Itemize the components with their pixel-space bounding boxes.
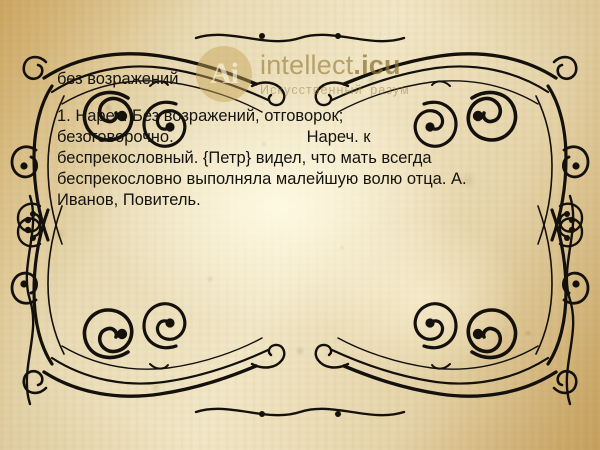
- ornament-bottom-edge: [196, 409, 404, 415]
- ornament-top-edge: [196, 35, 404, 41]
- entry-headword: без возражений: [57, 68, 547, 90]
- ornament-bottom-left: [12, 206, 284, 396]
- ornament-left-edge: [27, 196, 33, 404]
- ornament-right-edge: [567, 196, 573, 404]
- parchment-card: Ai intellect.icu Искусственный разум без…: [0, 0, 600, 450]
- ornament-bottom-right: [316, 206, 588, 396]
- entry-definition: 1. Нареч. Без возражений, отговорок; без…: [57, 106, 547, 211]
- dictionary-entry: без возражений 1. Нареч. Без возражений,…: [57, 68, 547, 211]
